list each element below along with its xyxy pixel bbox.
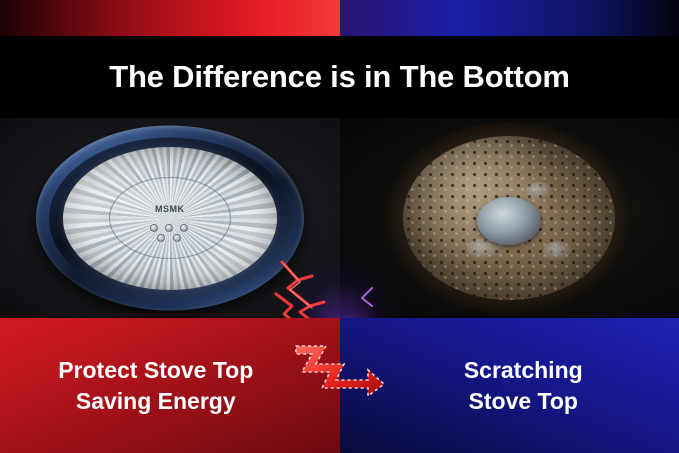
- top-color-band: [0, 0, 679, 36]
- bad-pan-rough-disc: [403, 136, 615, 300]
- left-caption-line-1: Protect Stove Top: [58, 355, 281, 386]
- zigzag-arrow-container: [292, 338, 388, 396]
- pan-polished-disc: MSMK: [63, 147, 277, 290]
- brand-logo: MSMK: [155, 204, 185, 214]
- top-band-blue-half: [340, 0, 679, 36]
- right-caption-line-1: Scratching: [436, 355, 583, 386]
- right-product-photo: [340, 118, 679, 318]
- pan-rim: MSMK: [49, 137, 291, 299]
- left-caption-line-2: Saving Energy: [76, 386, 264, 417]
- pan-stamp-marks: [148, 224, 192, 244]
- page-title: The Difference is in The Bottom: [109, 59, 570, 95]
- bad-pan-outer-body: [384, 122, 634, 314]
- pan-inner-ring: [109, 177, 231, 259]
- bad-pan-smudge: [543, 241, 573, 261]
- comparison-infographic: The Difference is in The Bottom MSMK: [0, 0, 679, 453]
- bad-pan-smudge: [526, 182, 552, 200]
- right-caption-line-2: Stove Top: [441, 386, 578, 417]
- pan-outer-body: MSMK: [36, 126, 304, 311]
- headline-container: The Difference is in The Bottom: [0, 36, 679, 118]
- right-caption-panel: Scratching Stove Top: [340, 318, 679, 453]
- zigzag-arrow-icon: [292, 338, 388, 396]
- photo-strip: MSMK: [0, 118, 679, 318]
- left-caption-panel: Protect Stove Top Saving Energy: [0, 318, 340, 453]
- left-product-photo: MSMK: [0, 118, 340, 318]
- bad-pan-center-plate: [477, 197, 541, 245]
- top-band-red-half: [0, 0, 340, 36]
